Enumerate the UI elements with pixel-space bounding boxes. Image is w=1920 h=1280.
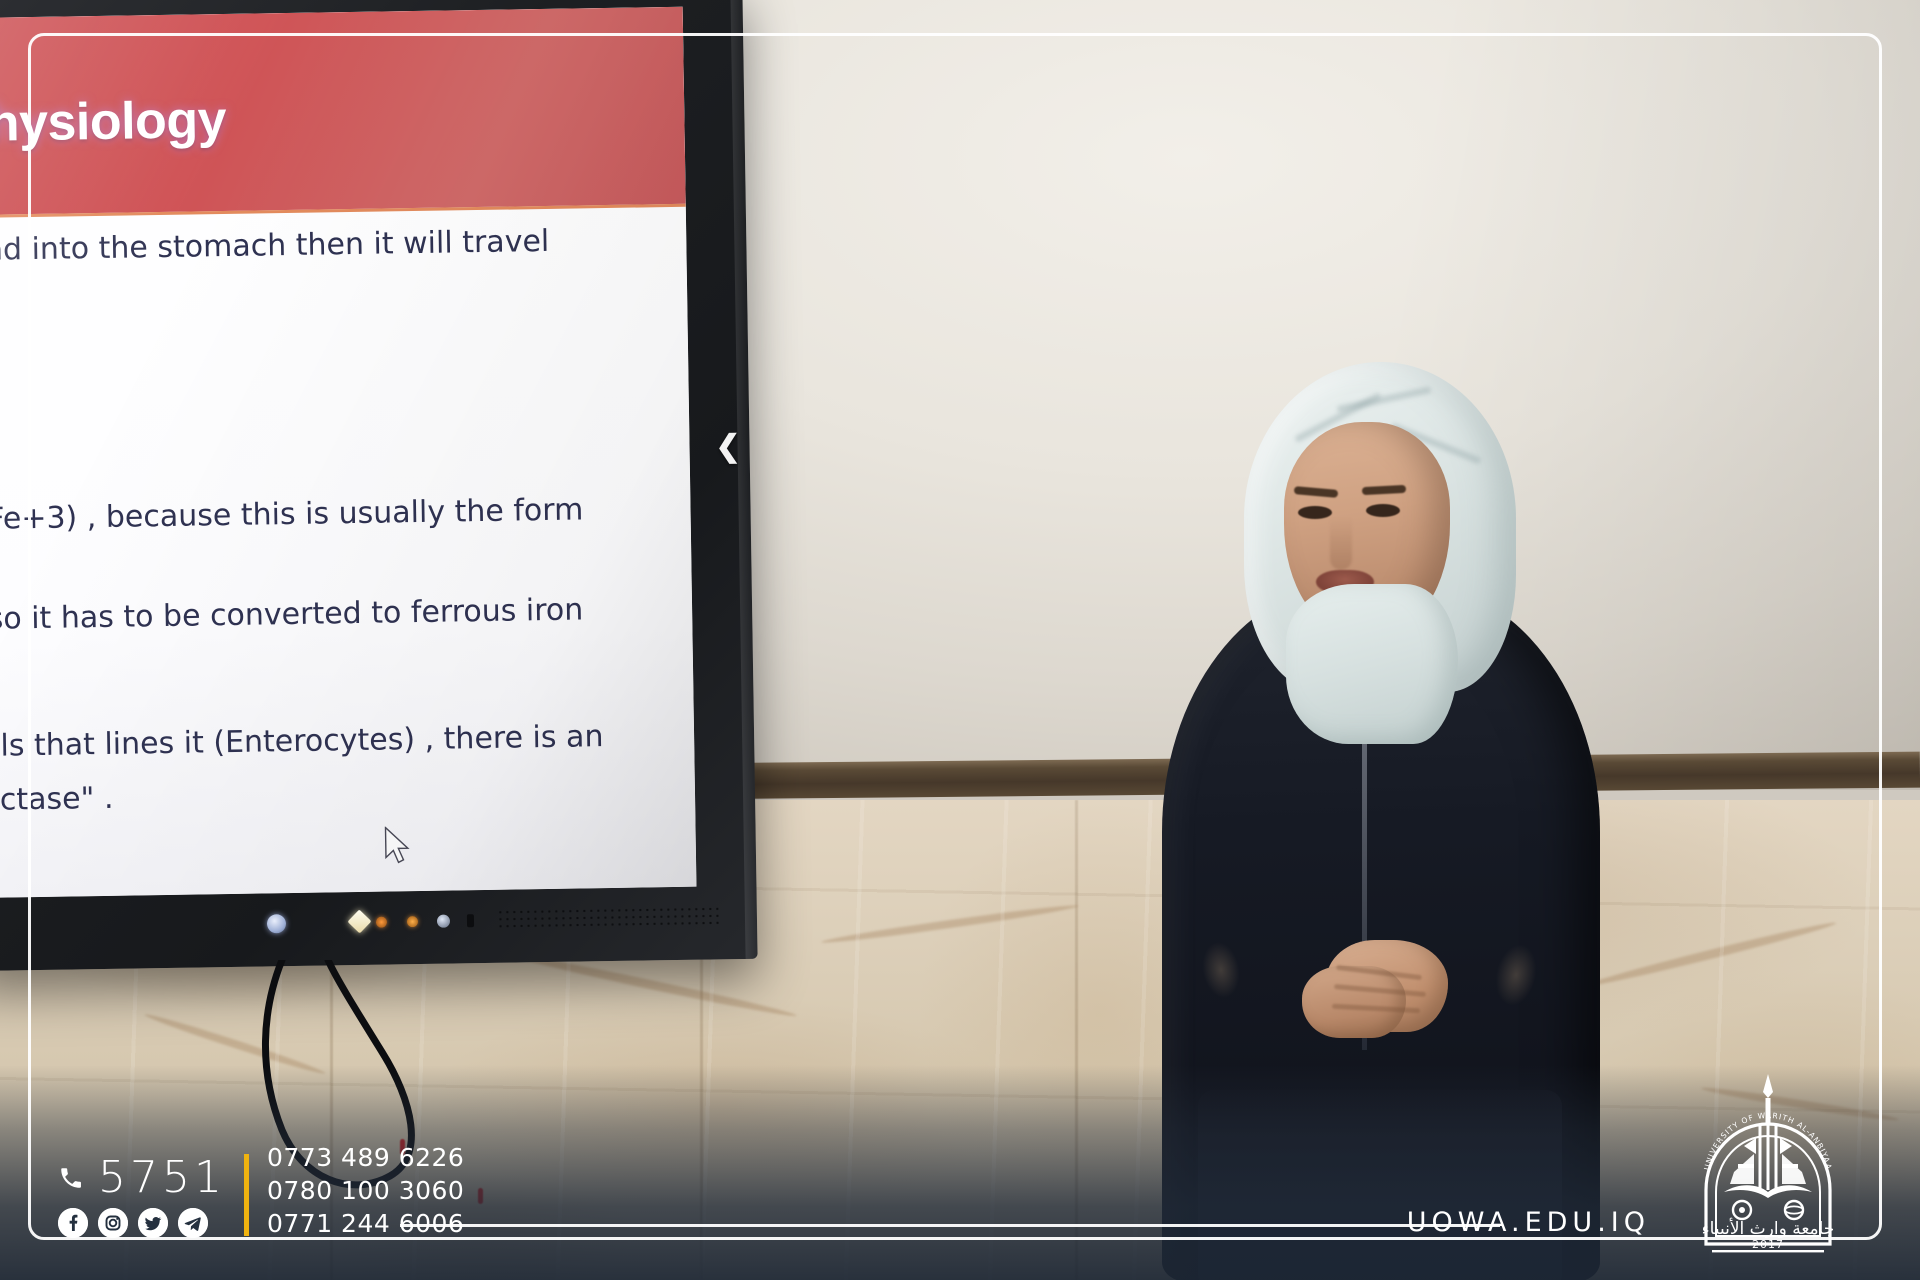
slide-body: gus and into the stomach then it will tr… [0, 222, 695, 821]
university-of-warith-al-anbiyaa-logo: جامعة وارث الأنبياء 2017 UNIVERSITY OF W… [1684, 1068, 1852, 1258]
slide-title: n Physiology [0, 83, 685, 155]
hotline-row: 5751 [58, 1156, 226, 1200]
speaker-grille [497, 905, 719, 930]
presentation-slide: n Physiology gus and into the stomach th… [0, 7, 696, 899]
status-diamond-led-icon [347, 909, 371, 933]
facebook-icon[interactable] [58, 1208, 88, 1238]
footer-rule [400, 1224, 1500, 1227]
hand-left [1302, 966, 1406, 1038]
eye-left [1298, 506, 1332, 519]
slide-line: gus and into the stomach then it will tr… [0, 222, 687, 271]
screenshot-root: n Physiology gus and into the stomach th… [0, 0, 1920, 1280]
indicator-led-blue [437, 915, 450, 928]
indicator-led-orange-1 [376, 917, 387, 928]
nose [1330, 518, 1352, 570]
website-url[interactable]: UOWA.EDU.IQ [1407, 1207, 1650, 1238]
interactive-flat-panel-display[interactable]: n Physiology gus and into the stomach th… [0, 0, 758, 971]
slide-line: rireductase" . [0, 772, 695, 821]
accent-divider [244, 1154, 249, 1236]
sidebar-toggle-chevron-icon[interactable]: ❮ [715, 432, 741, 462]
mouse-cursor-icon [383, 826, 414, 866]
power-button[interactable] [267, 914, 286, 933]
presenter-student [1140, 370, 1620, 1280]
wall-mark-red-2 [478, 1188, 483, 1204]
logo-year: 2017 [1752, 1238, 1784, 1251]
telegram-icon[interactable] [178, 1208, 208, 1238]
eye-right [1366, 504, 1400, 517]
indicator-led-orange-2 [407, 916, 418, 927]
phone-number: 0773 489 6226 [267, 1143, 464, 1172]
logo-arabic-name: جامعة وارث الأنبياء [1702, 1218, 1835, 1239]
slide-line: he cells that lines it (Enterocytes) , t… [0, 717, 694, 766]
twitter-icon[interactable] [138, 1208, 168, 1238]
hotline-number: 5751 [98, 1156, 226, 1200]
instagram-icon[interactable] [98, 1208, 128, 1238]
hijab-drape [1286, 584, 1458, 744]
abaya-skirt [1198, 1090, 1562, 1280]
phone-icon [58, 1165, 84, 1191]
slide-line: orm (Fe+3) , because this is usually the… [0, 490, 691, 539]
slide-line: form so it has to be converted to ferrou… [0, 591, 692, 640]
contact-left-column: 5751 [58, 1156, 226, 1238]
phone-number: 0780 100 3060 [267, 1176, 464, 1205]
social-icons[interactable] [58, 1208, 226, 1238]
display-screen[interactable]: n Physiology gus and into the stomach th… [0, 7, 696, 899]
ir-receiver [467, 914, 474, 927]
